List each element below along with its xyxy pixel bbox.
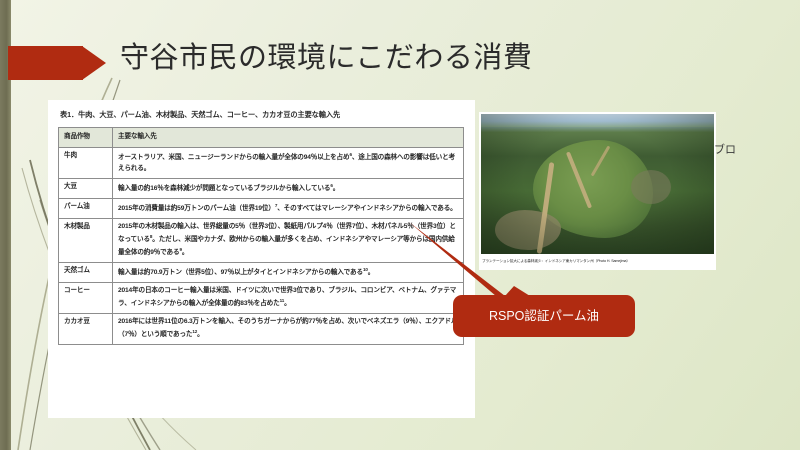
cell-text-2: 。 xyxy=(333,185,339,192)
table-row: 木材製品 2015年の木材製品の輸入は、世界総量の5％（世界3位）、製紙用パルプ… xyxy=(59,218,464,262)
cell-source: オーストラリア、米国、ニュージーランドからの輸入量が全体の94％以上を占め6、途… xyxy=(113,147,464,178)
cell-text-2: 。 xyxy=(284,300,290,307)
table-row: パーム油 2015年の消費量は約59万トンのパーム油（世界19位）7、そのすべて… xyxy=(59,198,464,218)
cell-text-2: 。 xyxy=(368,269,374,276)
column-header-item: 商品作物 xyxy=(59,128,113,148)
cell-item: カカオ豆 xyxy=(59,313,113,344)
cell-text-3: 。 xyxy=(182,249,188,256)
table-row: 牛肉 オーストラリア、米国、ニュージーランドからの輸入量が全体の94％以上を占め… xyxy=(59,147,464,178)
cell-item: 天然ゴム xyxy=(59,262,113,282)
callout-tail xyxy=(505,286,530,296)
aerial-forest-image xyxy=(481,114,714,254)
page-title: 守谷市民の環境にこだわる消費 xyxy=(120,38,740,78)
cell-text: 2016年には世界11位の6.3万トンを輸入、そのうちガーナからが約77％を占め… xyxy=(118,318,457,338)
edge-stray-text: ブロ xyxy=(714,141,736,157)
column-header-source: 主要な輸入先 xyxy=(113,128,464,148)
cell-text: 輸入量の約16％を森林減少が問題となっているブラジルから輸入している xyxy=(118,185,330,192)
cell-source: 2015年の木材製品の輸入は、世界総量の5％（世界3位）、製紙用パルプ4％（世界… xyxy=(113,218,464,262)
table-caption: 表1．牛肉、大豆、パーム油、木材製品、天然ゴム、コーヒー、カカオ豆の主要な輸入先 xyxy=(60,110,465,120)
cell-item: 大豆 xyxy=(59,178,113,198)
forest-photo: プランテーション拡大による森林減少：インドネシア東カリマンタン州（Photo H… xyxy=(479,112,716,270)
photo-vignette xyxy=(481,114,714,254)
callout-rspo[interactable]: RSPO認証パーム油 xyxy=(453,295,635,337)
cell-text-2: 、そのすべてはマレーシアやインドネシアからの輸入である。 xyxy=(277,205,456,212)
table-row: カカオ豆 2016年には世界11位の6.3万トンを輸入、そのうちガーナからが約7… xyxy=(59,313,464,344)
banner-body xyxy=(8,46,83,80)
import-table: 商品作物 主要な輸入先 牛肉 オーストラリア、米国、ニュージーランドからの輸入量… xyxy=(58,127,464,345)
cell-source: 2014年の日本のコーヒー輸入量は米国、ドイツに次いで世界3位であり、ブラジル、… xyxy=(113,283,464,314)
callout-label: RSPO認証パーム油 xyxy=(489,309,599,323)
cell-text: 輸入量は約70.9万トン（世界5位）、97％以上がタイとインドネシアからの輸入で… xyxy=(118,269,363,276)
cell-source: 2015年の消費量は約59万トンのパーム油（世界19位）7、そのすべてはマレーシ… xyxy=(113,198,464,218)
cell-item: 牛肉 xyxy=(59,147,113,178)
banner-arrowhead xyxy=(82,46,106,80)
slide-canvas: 守谷市民の環境にこだわる消費 表1．牛肉、大豆、パーム油、木材製品、天然ゴム、コ… xyxy=(0,0,800,450)
cell-text-2: 。 xyxy=(197,331,203,338)
cell-item: 木材製品 xyxy=(59,218,113,262)
photo-caption: プランテーション拡大による森林減少：インドネシア東カリマンタン州（Photo H… xyxy=(481,254,714,269)
table-row: 天然ゴム 輸入量は約70.9万トン（世界5位）、97％以上がタイとインドネシアか… xyxy=(59,262,464,282)
cell-text: 2015年の消費量は約59万トンのパーム油（世界19位） xyxy=(118,205,275,212)
table-row: コーヒー 2014年の日本のコーヒー輸入量は米国、ドイツに次いで世界3位であり、… xyxy=(59,283,464,314)
cell-source: 2016年には世界11位の6.3万トンを輸入、そのうちガーナからが約77％を占め… xyxy=(113,313,464,344)
cell-text: オーストラリア、米国、ニュージーランドからの輸入量が全体の94％以上を占め xyxy=(118,154,349,161)
import-table-panel: 表1．牛肉、大豆、パーム油、木材製品、天然ゴム、コーヒー、カカオ豆の主要な輸入先… xyxy=(48,100,475,418)
cell-item: パーム油 xyxy=(59,198,113,218)
cell-text-2: 。ただし、米国やカナダ、欧州からの輸入量が多くを占め、インドネシアやマレーシア等… xyxy=(118,236,455,256)
cell-item: コーヒー xyxy=(59,283,113,314)
title-arrow-banner xyxy=(8,46,106,80)
table-row: 大豆 輸入量の約16％を森林減少が問題となっているブラジルから輸入している6。 xyxy=(59,178,464,198)
cell-source: 輸入量は約70.9万トン（世界5位）、97％以上がタイとインドネシアからの輸入で… xyxy=(113,262,464,282)
cell-source: 輸入量の約16％を森林減少が問題となっているブラジルから輸入している6。 xyxy=(113,178,464,198)
table-header-row: 商品作物 主要な輸入先 xyxy=(59,128,464,148)
